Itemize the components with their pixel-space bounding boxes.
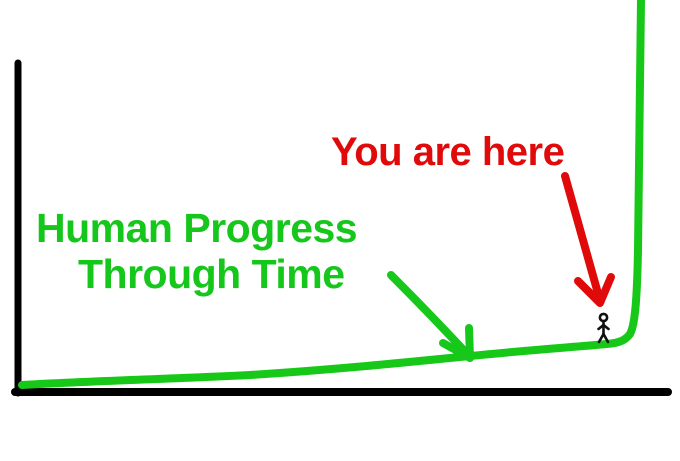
exponential-progress-chart: Human Progress Through Time You are here (0, 0, 680, 461)
progress-label-group: Human Progress Through Time (36, 205, 357, 297)
progress-label-line1: Human Progress (36, 205, 357, 251)
you-are-here-label: You are here (331, 130, 564, 174)
progress-chart-figure: Human Progress Through Time You are here (0, 0, 680, 461)
progress-label-line2: Through Time (78, 251, 345, 297)
